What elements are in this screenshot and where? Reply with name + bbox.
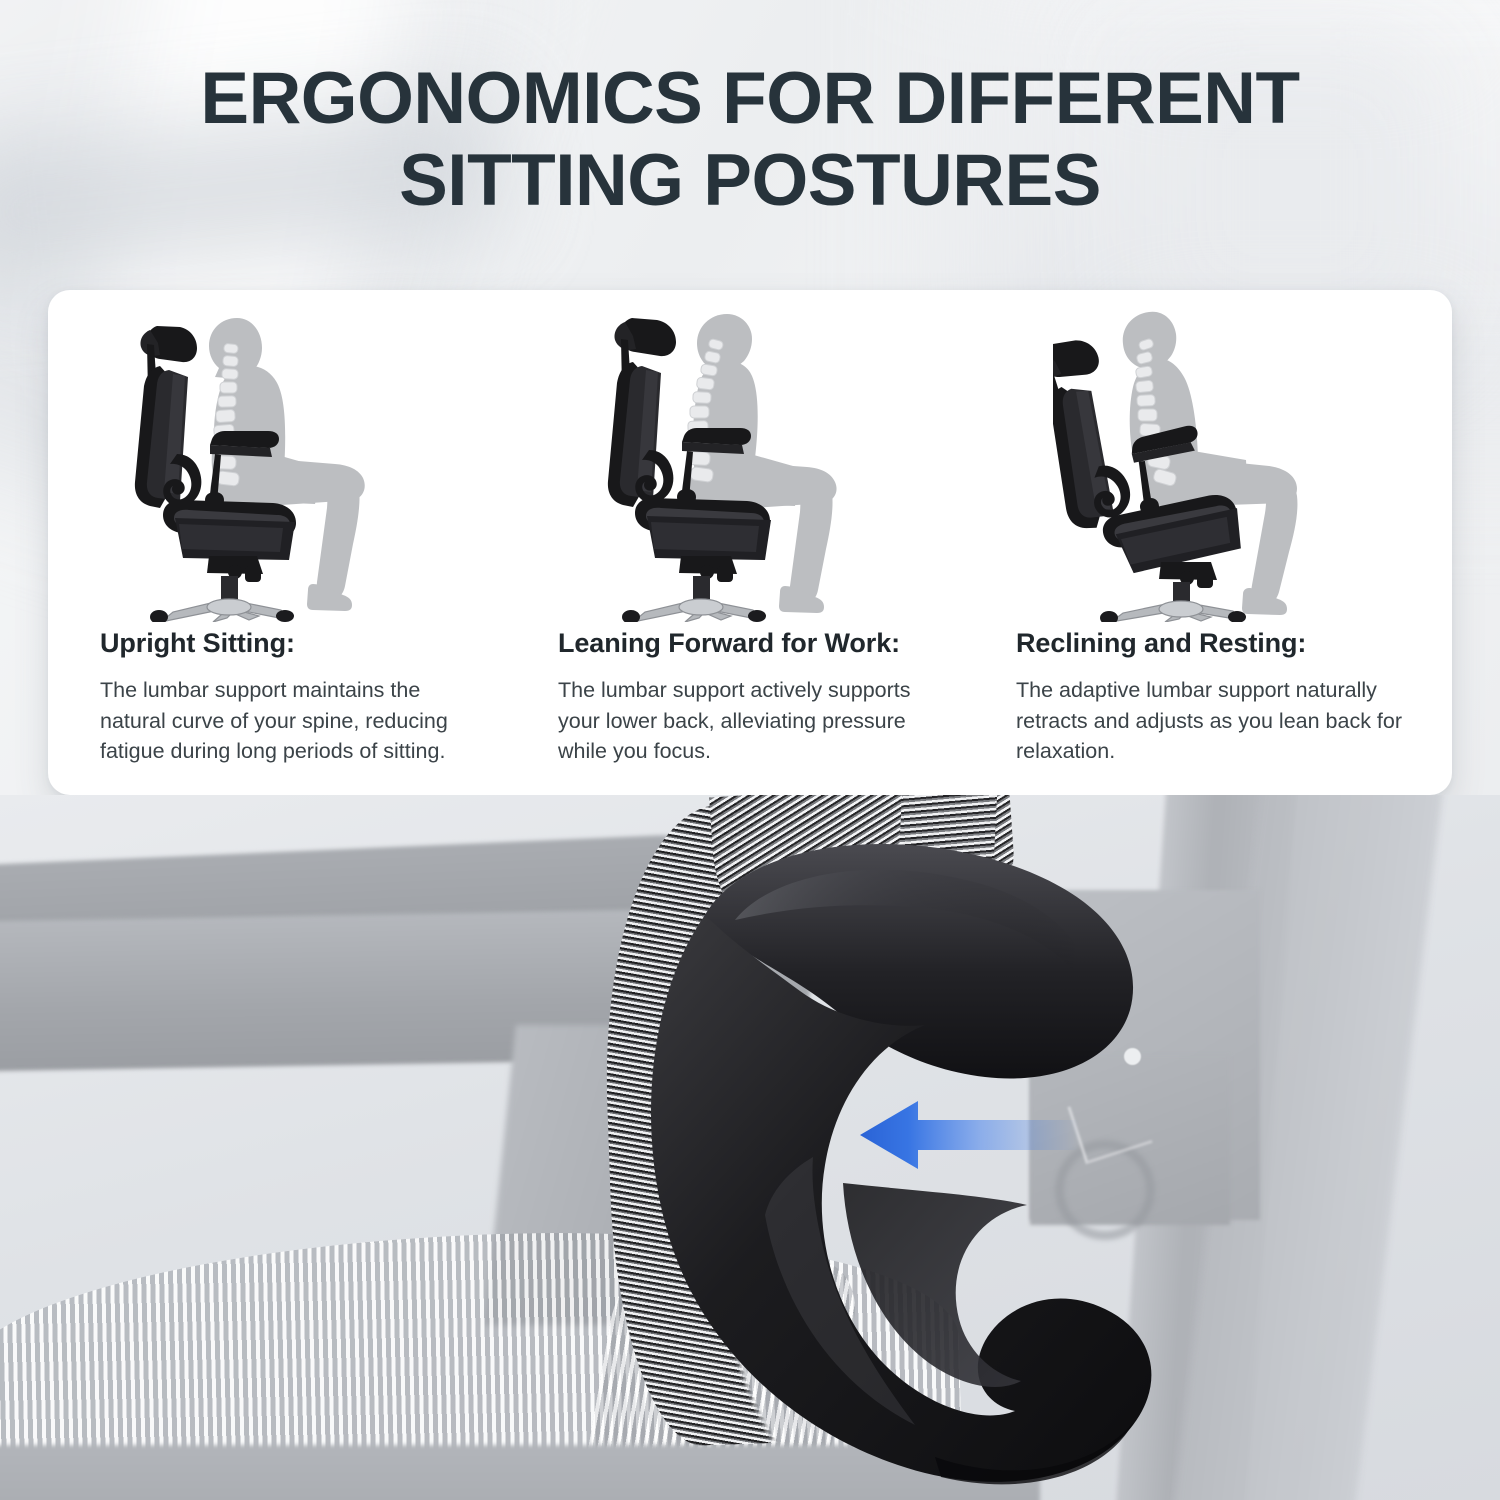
reclining-chair-illustration [984, 304, 1452, 624]
posture-body-reclining: The adaptive lumbar support naturally re… [1016, 675, 1420, 767]
upright-sitting-chair-illustration [48, 304, 516, 624]
posture-column-reclining: Reclining and Resting: The adaptive lumb… [984, 290, 1452, 795]
page-title-line-2: SITTING POSTURES [0, 140, 1500, 222]
posture-body-upright: The lumbar support maintains the natural… [100, 675, 466, 767]
posture-caption-reclining: Reclining and Resting: The adaptive lumb… [984, 628, 1452, 767]
leaning-forward-chair-illustration [516, 304, 984, 624]
page-title-line-1: ERGONOMICS FOR DIFFERENT [0, 58, 1500, 140]
posture-caption-upright: Upright Sitting: The lumbar support main… [48, 628, 516, 767]
postures-card: Upright Sitting: The lumbar support main… [48, 290, 1452, 795]
postures-row: Upright Sitting: The lumbar support main… [48, 290, 1452, 795]
posture-column-leaning-forward: Leaning Forward for Work: The lumbar sup… [516, 290, 984, 795]
lumbar-hero-section: Why does the lumbar support feel so prom… [0, 795, 1500, 1500]
lumbar-direction-arrow [860, 1093, 1080, 1177]
posture-body-leaning-forward: The lumbar support actively supports you… [558, 675, 958, 767]
posture-heading-leaning-forward: Leaning Forward for Work: [558, 628, 958, 659]
posture-heading-reclining: Reclining and Resting: [1016, 628, 1420, 659]
posture-column-upright: Upright Sitting: The lumbar support main… [48, 290, 516, 795]
page-title: ERGONOMICS FOR DIFFERENT SITTING POSTURE… [0, 58, 1500, 222]
posture-heading-upright: Upright Sitting: [100, 628, 466, 659]
posture-caption-leaning-forward: Leaning Forward for Work: The lumbar sup… [516, 628, 984, 767]
